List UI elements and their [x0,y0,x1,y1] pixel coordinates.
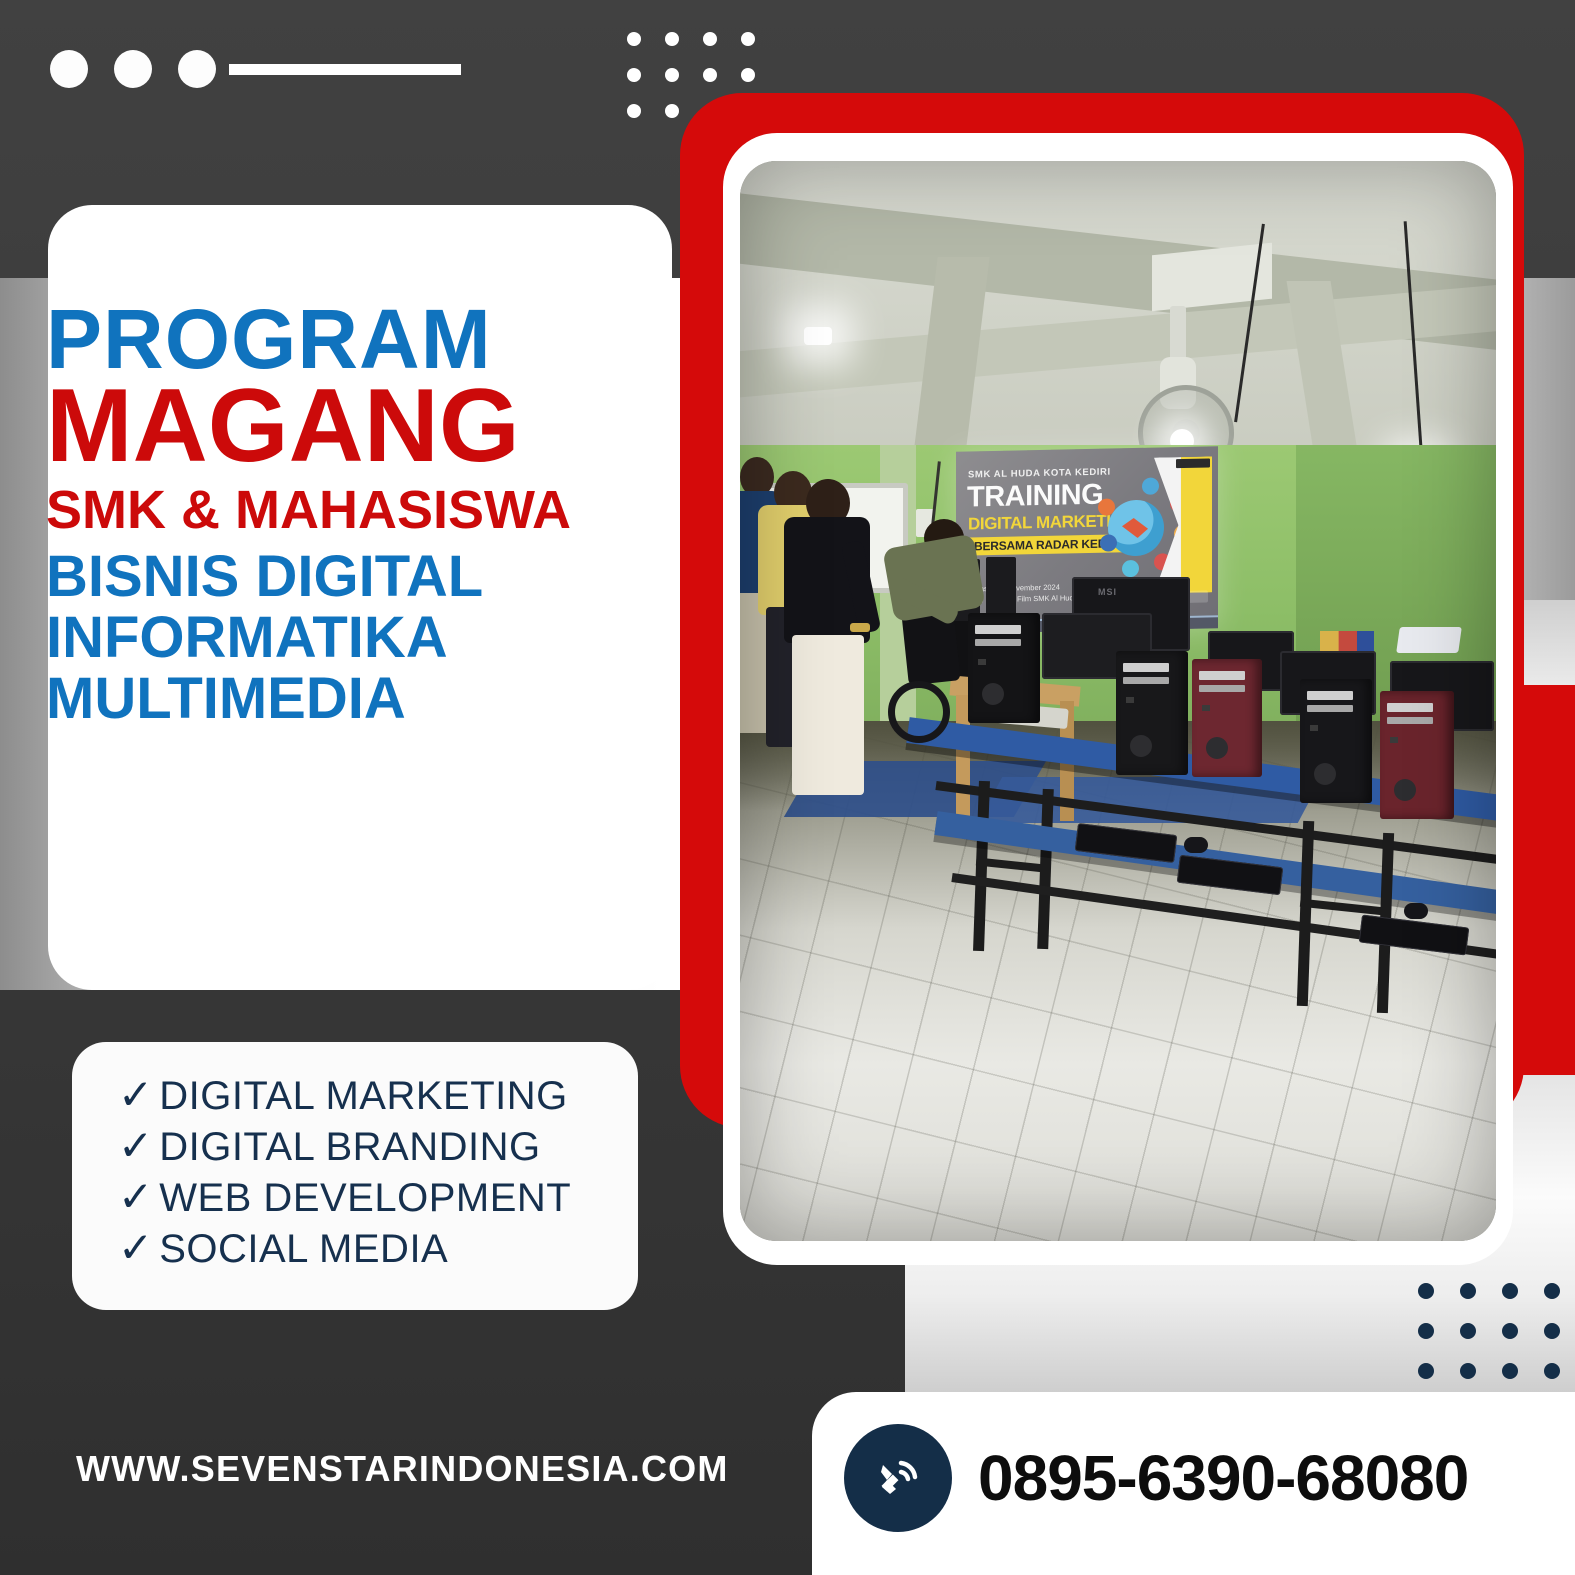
photo-vignette [740,161,1496,1241]
checklist: ✓ DIGITAL MARKETING ✓ DIGITAL BRANDING ✓… [118,1074,658,1278]
headline-audience: SMK & MAHASISWA [46,484,686,537]
headline-major-1: BISNIS DIGITAL [46,548,686,605]
decor-circle [114,50,152,88]
headline-major-3: MULTIMEDIA [46,670,686,727]
checklist-label: DIGITAL MARKETING [159,1074,568,1119]
checklist-label: SOCIAL MEDIA [159,1227,448,1272]
list-item: ✓ DIGITAL MARKETING [118,1074,658,1119]
phone-number[interactable]: 0895-6390-68080 [978,1441,1468,1515]
check-icon: ✓ [118,1176,153,1218]
phone-card: 0895-6390-68080 [812,1392,1575,1575]
list-item: ✓ WEB DEVELOPMENT [118,1176,658,1221]
phone-ringing-icon [844,1424,952,1532]
decor-rule [229,64,461,75]
decor-circle [178,50,216,88]
checklist-label: DIGITAL BRANDING [159,1125,540,1170]
list-item: ✓ SOCIAL MEDIA [118,1227,658,1272]
check-icon: ✓ [118,1074,153,1116]
check-icon: ✓ [118,1227,153,1269]
dot-grid-bottom [1418,1283,1560,1379]
website-url[interactable]: WWW.SEVENSTARINDONESIA.COM [76,1448,729,1490]
headline-block: PROGRAM MAGANG SMK & MAHASISWA BISNIS DI… [46,298,686,728]
decor-circle [50,50,88,88]
decor-circles [50,50,216,88]
checklist-label: WEB DEVELOPMENT [159,1176,571,1221]
poster-canvas: SMK AL HUDA KOTA KEDIRI TRAINING DIGITAL… [0,0,1575,1575]
list-item: ✓ DIGITAL BRANDING [118,1125,658,1170]
check-icon: ✓ [118,1125,153,1167]
lab-photo: SMK AL HUDA KOTA KEDIRI TRAINING DIGITAL… [740,161,1496,1241]
headline-magang: MAGANG [46,375,686,478]
headline-major-2: INFORMATIKA [46,609,686,666]
